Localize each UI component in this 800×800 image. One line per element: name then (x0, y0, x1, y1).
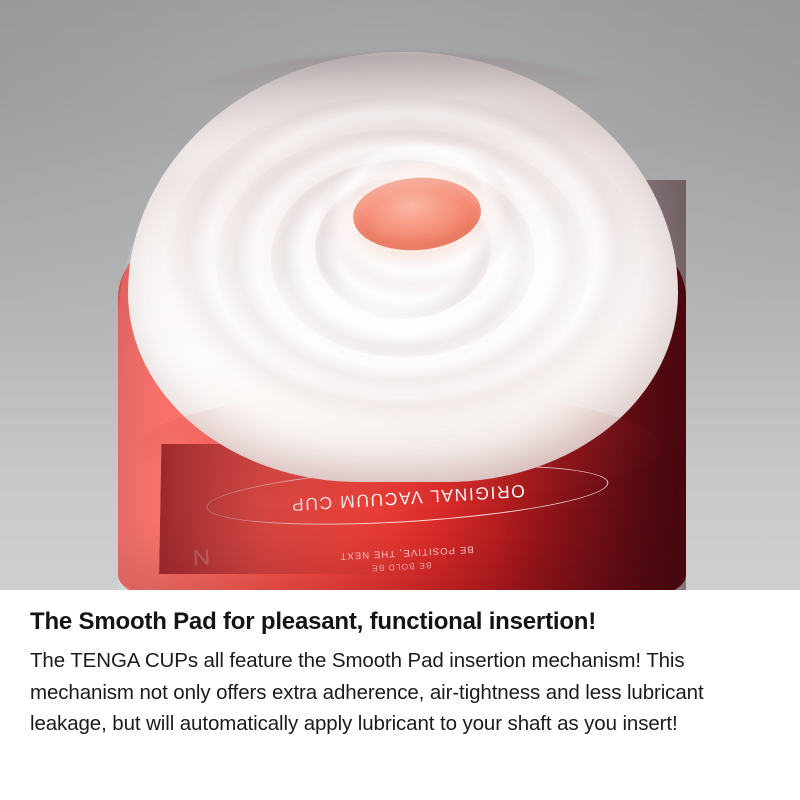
caption-panel: The Smooth Pad for pleasant, functional … (0, 590, 800, 800)
caption-heading: The Smooth Pad for pleasant, functional … (30, 608, 596, 636)
caption-body: The TENGA CUPs all feature the Smooth Pa… (30, 645, 778, 740)
pad-top-rim-shade (128, 52, 678, 147)
product-photo: N BE BOLD BE BE POSITIVE, THE NEXT ORIGI… (0, 0, 800, 590)
product-image-card: N BE BOLD BE BE POSITIVE, THE NEXT ORIGI… (0, 0, 800, 800)
